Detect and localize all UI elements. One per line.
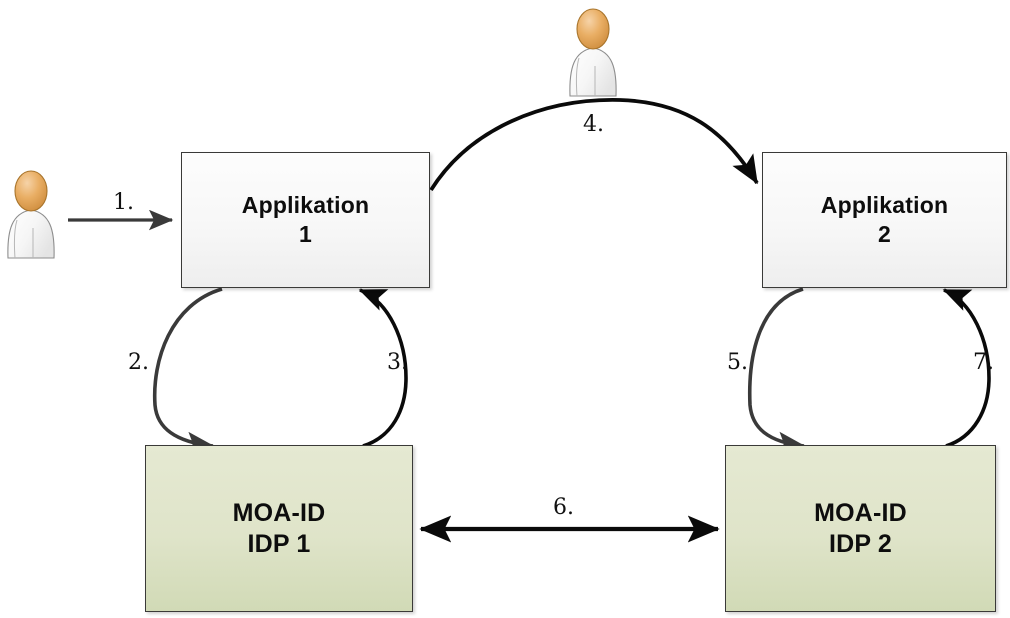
moa-id-idp-2-title: MOA-ID xyxy=(814,498,907,529)
user-actor-top-icon xyxy=(566,6,620,98)
application-1-node[interactable]: Applikation 1 xyxy=(181,152,430,288)
step-label-7: 7. xyxy=(973,350,994,375)
moa-id-idp-1-node[interactable]: MOA-ID IDP 1 xyxy=(145,445,413,612)
application-1-title: Applikation xyxy=(242,191,369,220)
step-label-4: 4. xyxy=(583,112,604,137)
step-label-6: 6. xyxy=(553,495,574,520)
application-2-title: Applikation xyxy=(821,191,948,220)
moa-id-idp-2-node[interactable]: MOA-ID IDP 2 xyxy=(725,445,996,612)
step-label-2: 2. xyxy=(128,350,149,375)
moa-id-idp-2-index: IDP 2 xyxy=(829,529,892,560)
step-label-5: 5. xyxy=(727,350,748,375)
application-1-index: 1 xyxy=(299,220,312,249)
step-label-3: 3. xyxy=(387,350,408,375)
arrow-step-5 xyxy=(750,289,804,446)
diagram-canvas: Applikation 1 Applikation 2 MOA-ID IDP 1… xyxy=(0,0,1010,618)
moa-id-idp-1-title: MOA-ID xyxy=(233,498,326,529)
user-actor-left-icon xyxy=(4,168,58,260)
arrow-step-2 xyxy=(155,289,222,446)
application-2-node[interactable]: Applikation 2 xyxy=(762,152,1007,288)
application-2-index: 2 xyxy=(878,220,891,249)
moa-id-idp-1-index: IDP 1 xyxy=(247,529,310,560)
step-label-1: 1. xyxy=(113,190,134,215)
